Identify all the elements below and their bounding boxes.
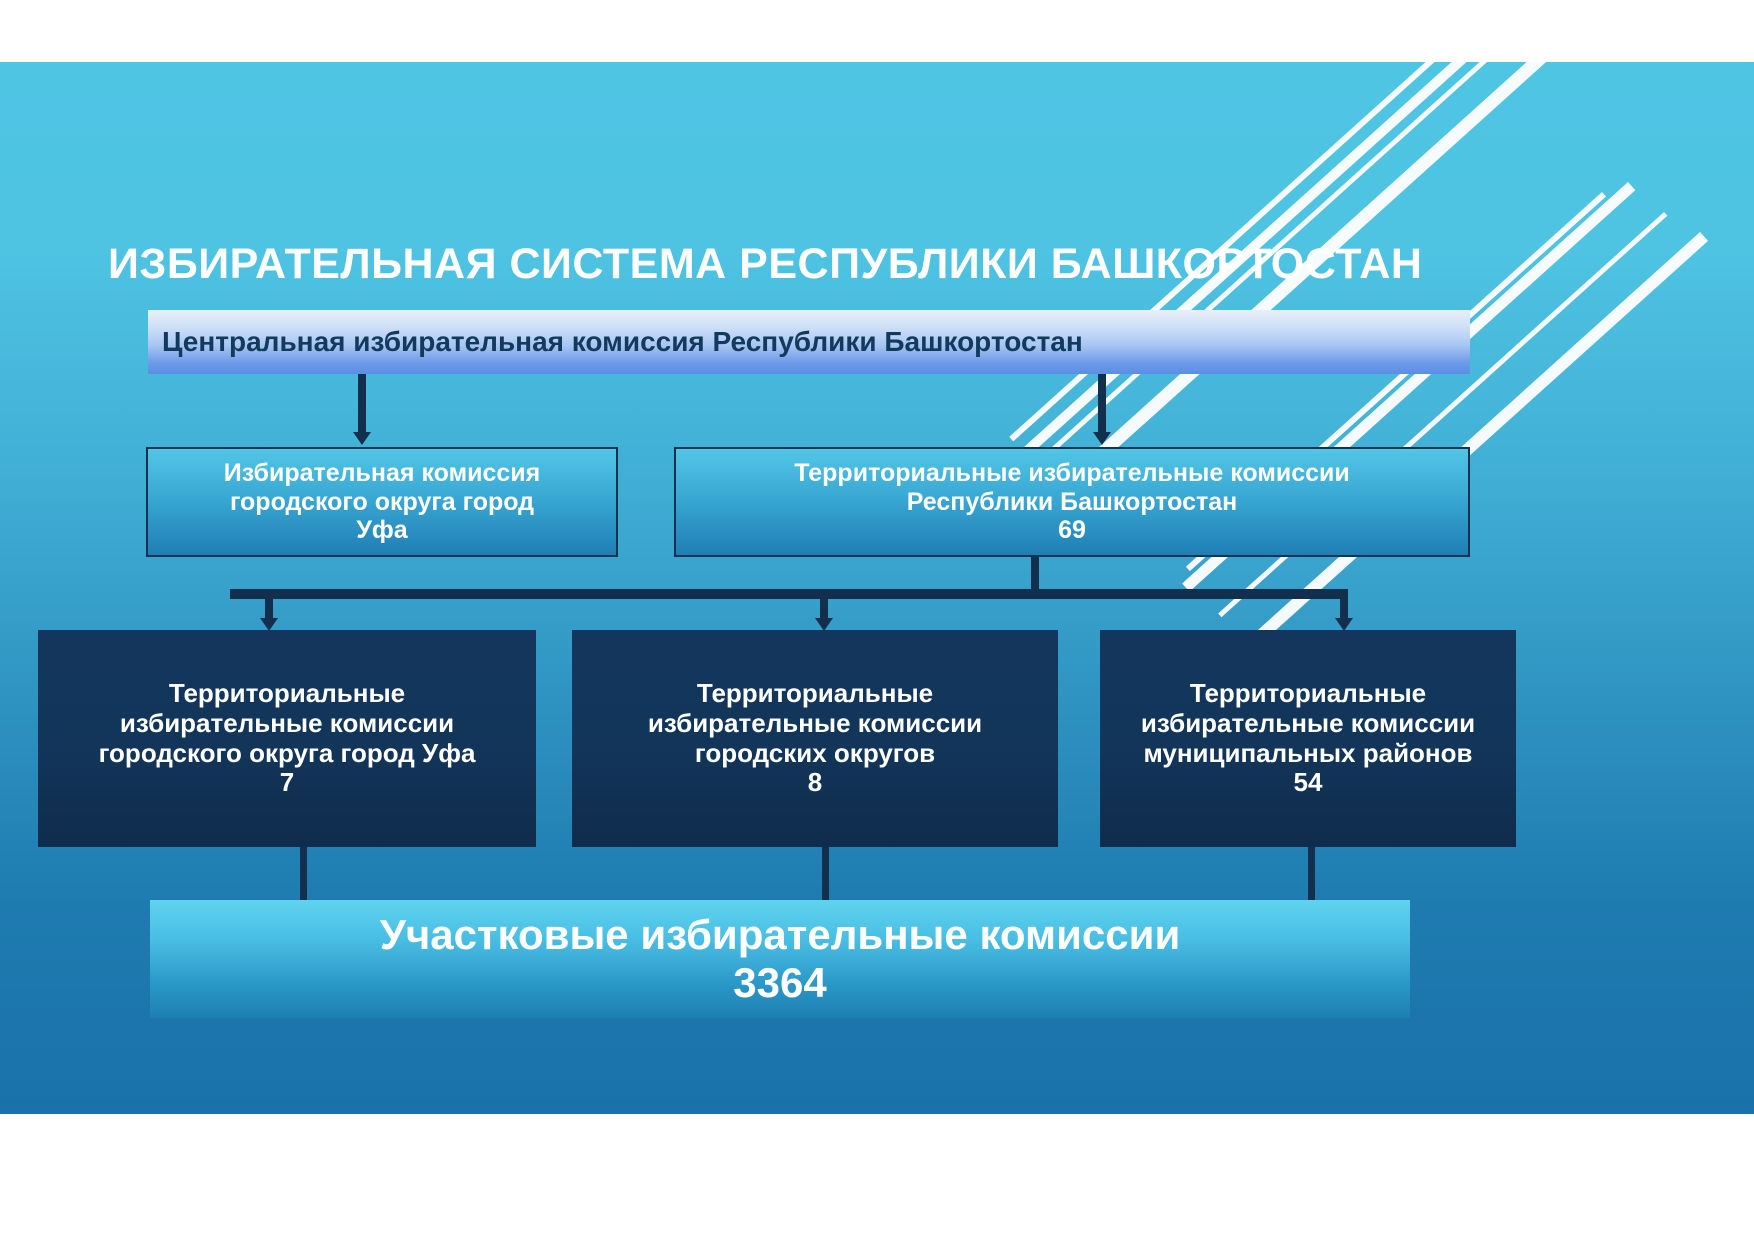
tikmr-line-1: Территориальные [1190, 678, 1426, 708]
ufa-line-2: городского округа город [230, 488, 534, 516]
tikrb-line-1: Территориальные избирательные комиссии [794, 459, 1350, 487]
connector-cik-to-ufa-vertical [358, 374, 366, 434]
connector-cik-to-tikrb-arrow [1093, 432, 1111, 445]
connector-cik-to-tikrb-vertical [1098, 374, 1106, 434]
tikufa-line-2: избирательные комиссии [120, 708, 454, 738]
node-territorial-commissions-rb-text: Территориальные избирательные комиссии Р… [676, 459, 1468, 545]
node-tik-ufa-city-district-text: Территориальные избирательные комиссии г… [38, 679, 536, 799]
connector-horizontal-bus [230, 589, 1348, 599]
ufa-line-1: Избирательная комиссия [224, 459, 540, 487]
node-tik-city-districts-text: Территориальные избирательные комиссии г… [572, 679, 1058, 799]
node-ufa-city-election-commission[interactable]: Избирательная комиссия городского округа… [146, 447, 618, 557]
slide-root: ИЗБИРАТЕЛЬНАЯ СИСТЕМА РЕСПУБЛИКИ БАШКОРТ… [0, 0, 1754, 1240]
tikgo-line-2: избирательные комиссии [648, 708, 982, 738]
tikmr-line-2: избирательные комиссии [1141, 708, 1475, 738]
node-precinct-election-commissions[interactable]: Участковые избирательные комиссии 3364 [150, 900, 1410, 1018]
tikrb-count: 69 [676, 516, 1468, 545]
tikufa-line-3: городского округа город Уфа [99, 738, 476, 768]
tikgo-count: 8 [572, 768, 1058, 798]
connector-cik-to-ufa-arrow [353, 432, 371, 445]
node-central-election-commission-label: Центральная избирательная комиссия Респу… [162, 326, 1470, 358]
tikrb-line-2: Республики Башкортостан [907, 488, 1238, 516]
node-tik-municipal-districts[interactable]: Территориальные избирательные комиссии м… [1100, 630, 1516, 847]
tikufa-count: 7 [38, 768, 536, 798]
tikgo-line-1: Территориальные [697, 678, 933, 708]
uik-label: Участковые избирательные комиссии [380, 911, 1181, 958]
node-tik-municipal-districts-text: Территориальные избирательные комиссии м… [1100, 679, 1516, 799]
slide-canvas: ИЗБИРАТЕЛЬНАЯ СИСТЕМА РЕСПУБЛИКИ БАШКОРТ… [0, 62, 1754, 1114]
tikmr-line-3: муниципальных районов [1143, 738, 1472, 768]
uik-count: 3364 [733, 959, 826, 1006]
page-title: ИЗБИРАТЕЛЬНАЯ СИСТЕМА РЕСПУБЛИКИ БАШКОРТ… [108, 240, 1528, 289]
tikufa-line-1: Территориальные [169, 678, 405, 708]
tikmr-count: 54 [1100, 768, 1516, 798]
ufa-line-3: Уфа [356, 516, 407, 544]
node-central-election-commission[interactable]: Центральная избирательная комиссия Респу… [148, 310, 1470, 374]
node-tik-ufa-city-district[interactable]: Территориальные избирательные комиссии г… [38, 630, 536, 847]
node-tik-city-districts[interactable]: Территориальные избирательные комиссии г… [572, 630, 1058, 847]
node-ufa-city-election-commission-text: Избирательная комиссия городского округа… [148, 459, 616, 545]
tikgo-line-3: городских округов [695, 738, 935, 768]
node-territorial-commissions-rb[interactable]: Территориальные избирательные комиссии Р… [674, 447, 1470, 557]
node-precinct-election-commissions-text: Участковые избирательные комиссии 3364 [150, 911, 1410, 1008]
